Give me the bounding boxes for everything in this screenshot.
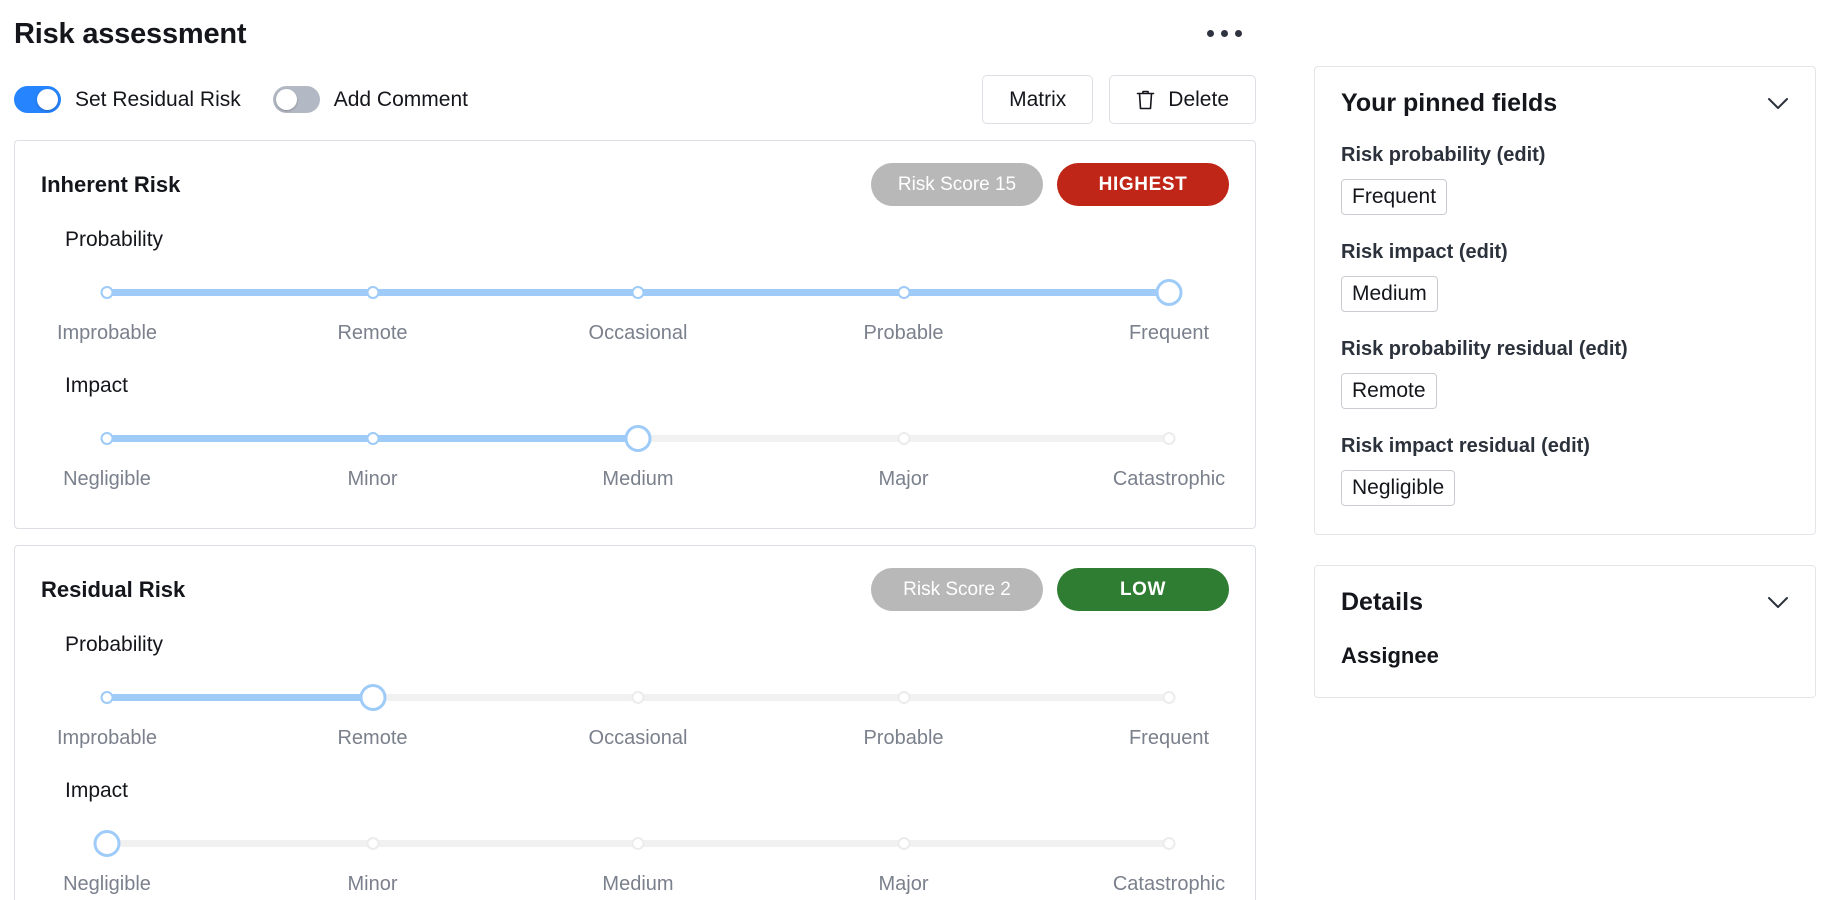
toggle-label-add-comment: Add Comment bbox=[334, 88, 468, 112]
inherent-risk-score-badge[interactable]: Risk Score 15 bbox=[871, 163, 1043, 206]
toolbar-actions: Matrix Delete bbox=[982, 75, 1256, 124]
residual-risk-probability-tick-1[interactable] bbox=[101, 691, 114, 704]
toggle-knob bbox=[37, 89, 58, 110]
residual-risk-title: Residual Risk bbox=[41, 577, 185, 603]
trash-icon bbox=[1136, 89, 1155, 110]
residual-risk-probability-track-fill bbox=[107, 694, 373, 701]
delete-button[interactable]: Delete bbox=[1109, 75, 1256, 124]
details-title: Details bbox=[1341, 588, 1423, 617]
inherent-risk-impact-slider[interactable] bbox=[107, 424, 1169, 454]
residual-risk-probability-tick-label-2: Remote bbox=[337, 727, 407, 750]
residual-risk-impact-handle[interactable] bbox=[94, 830, 121, 857]
inherent-risk-impact-label: Impact bbox=[65, 374, 1229, 398]
residual-risk-probability-label: Probability bbox=[65, 633, 1229, 657]
pinned-field-value-0[interactable]: Frequent bbox=[1341, 179, 1447, 215]
residual-risk-header: Residual Risk Risk Score 2 LOW bbox=[41, 568, 1229, 611]
residual-risk-probability-handle[interactable] bbox=[359, 684, 386, 711]
inherent-risk-probability-handle[interactable] bbox=[1156, 279, 1183, 306]
inherent-risk-probability-label: Probability bbox=[65, 228, 1229, 252]
inherent-risk-probability-tick-labels: ImprobableRemoteOccasionalProbableFreque… bbox=[107, 322, 1169, 352]
risk-cards-container: Inherent Risk Risk Score 15 HIGHEST Prob… bbox=[14, 140, 1290, 900]
pinned-field-3: Risk impact residual (edit) Negligible bbox=[1341, 435, 1789, 506]
inherent-risk-impact-tick-label-1: Negligible bbox=[63, 468, 151, 491]
toolbar: Set Residual Risk Add Comment Matrix Del… bbox=[14, 75, 1290, 124]
toggle-add-comment[interactable]: Add Comment bbox=[273, 86, 468, 113]
matrix-button[interactable]: Matrix bbox=[982, 75, 1093, 124]
toggle-set-residual-risk[interactable]: Set Residual Risk bbox=[14, 86, 241, 113]
pinned-field-value-2[interactable]: Remote bbox=[1341, 373, 1437, 409]
inherent-risk-probability-tick-label-1: Improbable bbox=[57, 322, 157, 345]
inherent-risk-probability-slider[interactable] bbox=[107, 278, 1169, 308]
residual-risk-impact-tick-4[interactable] bbox=[897, 837, 910, 850]
more-horizontal-icon[interactable] bbox=[1203, 24, 1246, 43]
inherent-risk-level-badge[interactable]: HIGHEST bbox=[1057, 163, 1229, 206]
residual-risk-level-badge[interactable]: LOW bbox=[1057, 568, 1229, 611]
toggle-switch-set-residual-risk[interactable] bbox=[14, 86, 61, 113]
residual-risk-score-badge[interactable]: Risk Score 2 bbox=[871, 568, 1043, 611]
residual-risk-card: Residual Risk Risk Score 2 LOW Probabili… bbox=[14, 545, 1256, 900]
pinned-field-label-1: Risk impact (edit) bbox=[1341, 241, 1789, 264]
matrix-button-label: Matrix bbox=[1009, 88, 1066, 112]
residual-risk-probability-tick-label-1: Improbable bbox=[57, 727, 157, 750]
inherent-risk-impact-tick-4[interactable] bbox=[897, 432, 910, 445]
toggle-switch-add-comment[interactable] bbox=[273, 86, 320, 113]
toggle-label-set-residual-risk: Set Residual Risk bbox=[75, 88, 241, 112]
page-header: Risk assessment bbox=[14, 18, 1290, 51]
pinned-field-2: Risk probability residual (edit) Remote bbox=[1341, 338, 1789, 409]
inherent-risk-impact-tick-label-2: Minor bbox=[347, 468, 397, 491]
inherent-risk-card: Inherent Risk Risk Score 15 HIGHEST Prob… bbox=[14, 140, 1256, 529]
pinned-field-label-0: Risk probability (edit) bbox=[1341, 144, 1789, 167]
residual-risk-impact-tick-2[interactable] bbox=[366, 837, 379, 850]
residual-risk-probability-block: Probability ImprobableRemoteOccasionalPr… bbox=[41, 633, 1229, 757]
inherent-risk-impact-tick-label-4: Major bbox=[878, 468, 928, 491]
residual-risk-impact-label: Impact bbox=[65, 779, 1229, 803]
inherent-risk-header: Inherent Risk Risk Score 15 HIGHEST bbox=[41, 163, 1229, 206]
chevron-down-icon[interactable] bbox=[1767, 596, 1789, 610]
inherent-risk-probability-tick-1[interactable] bbox=[101, 286, 114, 299]
main-column: Risk assessment Set Residual Risk Add Co… bbox=[0, 0, 1290, 900]
residual-risk-probability-tick-3[interactable] bbox=[632, 691, 645, 704]
inherent-risk-impact-tick-5[interactable] bbox=[1163, 432, 1176, 445]
inherent-risk-probability-tick-label-4: Probable bbox=[863, 322, 943, 345]
pinned-fields-panel: Your pinned fields Risk probability (edi… bbox=[1314, 66, 1816, 535]
inherent-risk-probability-tick-label-5: Frequent bbox=[1129, 322, 1209, 345]
residual-risk-probability-tick-label-4: Probable bbox=[863, 727, 943, 750]
residual-risk-impact-slider[interactable] bbox=[107, 829, 1169, 859]
residual-risk-impact-tick-3[interactable] bbox=[632, 837, 645, 850]
page-title: Risk assessment bbox=[14, 18, 246, 51]
inherent-risk-probability-tick-label-3: Occasional bbox=[589, 322, 688, 345]
inherent-risk-probability-tick-4[interactable] bbox=[897, 286, 910, 299]
pinned-field-1: Risk impact (edit) Medium bbox=[1341, 241, 1789, 312]
inherent-risk-impact-tick-2[interactable] bbox=[366, 432, 379, 445]
chevron-down-icon[interactable] bbox=[1767, 97, 1789, 111]
inherent-risk-impact-tick-labels: NegligibleMinorMediumMajorCatastrophic bbox=[107, 468, 1169, 498]
pinned-field-value-3[interactable]: Negligible bbox=[1341, 470, 1455, 506]
residual-risk-impact-tick-label-2: Minor bbox=[347, 873, 397, 896]
pinned-field-value-1[interactable]: Medium bbox=[1341, 276, 1438, 312]
delete-button-label: Delete bbox=[1168, 88, 1229, 112]
residual-risk-impact-block: Impact NegligibleMinorMediumMajorCatastr… bbox=[41, 779, 1229, 900]
residual-risk-probability-tick-labels: ImprobableRemoteOccasionalProbableFreque… bbox=[107, 727, 1169, 757]
inherent-risk-badges: Risk Score 15 HIGHEST bbox=[871, 163, 1229, 206]
pinned-field-label-2: Risk probability residual (edit) bbox=[1341, 338, 1789, 361]
details-header: Details bbox=[1341, 588, 1789, 617]
pinned-fields-header: Your pinned fields bbox=[1341, 89, 1789, 118]
risk-assessment-page: Risk assessment Set Residual Risk Add Co… bbox=[0, 0, 1840, 900]
inherent-risk-impact-tick-label-5: Catastrophic bbox=[1113, 468, 1225, 491]
inherent-risk-impact-tick-1[interactable] bbox=[101, 432, 114, 445]
residual-risk-impact-tick-label-3: Medium bbox=[602, 873, 673, 896]
residual-risk-badges: Risk Score 2 LOW bbox=[871, 568, 1229, 611]
inherent-risk-probability-tick-3[interactable] bbox=[632, 286, 645, 299]
assignee-label: Assignee bbox=[1341, 643, 1789, 669]
details-panel: Details Assignee bbox=[1314, 565, 1816, 698]
inherent-risk-impact-block: Impact NegligibleMinorMediumMajorCatastr… bbox=[41, 374, 1229, 498]
sidebar: Your pinned fields Risk probability (edi… bbox=[1290, 0, 1840, 900]
residual-risk-impact-tick-5[interactable] bbox=[1163, 837, 1176, 850]
inherent-risk-probability-tick-2[interactable] bbox=[366, 286, 379, 299]
pinned-field-0: Risk probability (edit) Frequent bbox=[1341, 144, 1789, 215]
inherent-risk-probability-tick-label-2: Remote bbox=[337, 322, 407, 345]
inherent-risk-impact-tick-label-3: Medium bbox=[602, 468, 673, 491]
residual-risk-impact-tick-label-5: Catastrophic bbox=[1113, 873, 1225, 896]
residual-risk-impact-tick-label-4: Major bbox=[878, 873, 928, 896]
pinned-fields-title: Your pinned fields bbox=[1341, 89, 1557, 118]
residual-risk-probability-tick-4[interactable] bbox=[897, 691, 910, 704]
residual-risk-impact-tick-labels: NegligibleMinorMediumMajorCatastrophic bbox=[107, 873, 1169, 900]
pinned-field-label-3: Risk impact residual (edit) bbox=[1341, 435, 1789, 458]
inherent-risk-impact-handle[interactable] bbox=[625, 425, 652, 452]
residual-risk-probability-slider[interactable] bbox=[107, 683, 1169, 713]
residual-risk-probability-tick-label-5: Frequent bbox=[1129, 727, 1209, 750]
residual-risk-probability-tick-label-3: Occasional bbox=[589, 727, 688, 750]
inherent-risk-title: Inherent Risk bbox=[41, 172, 180, 198]
residual-risk-impact-tick-label-1: Negligible bbox=[63, 873, 151, 896]
residual-risk-probability-tick-5[interactable] bbox=[1163, 691, 1176, 704]
toggle-knob bbox=[276, 89, 297, 110]
pinned-fields-list: Risk probability (edit) Frequent Risk im… bbox=[1341, 144, 1789, 506]
inherent-risk-probability-block: Probability ImprobableRemoteOccasionalPr… bbox=[41, 228, 1229, 352]
